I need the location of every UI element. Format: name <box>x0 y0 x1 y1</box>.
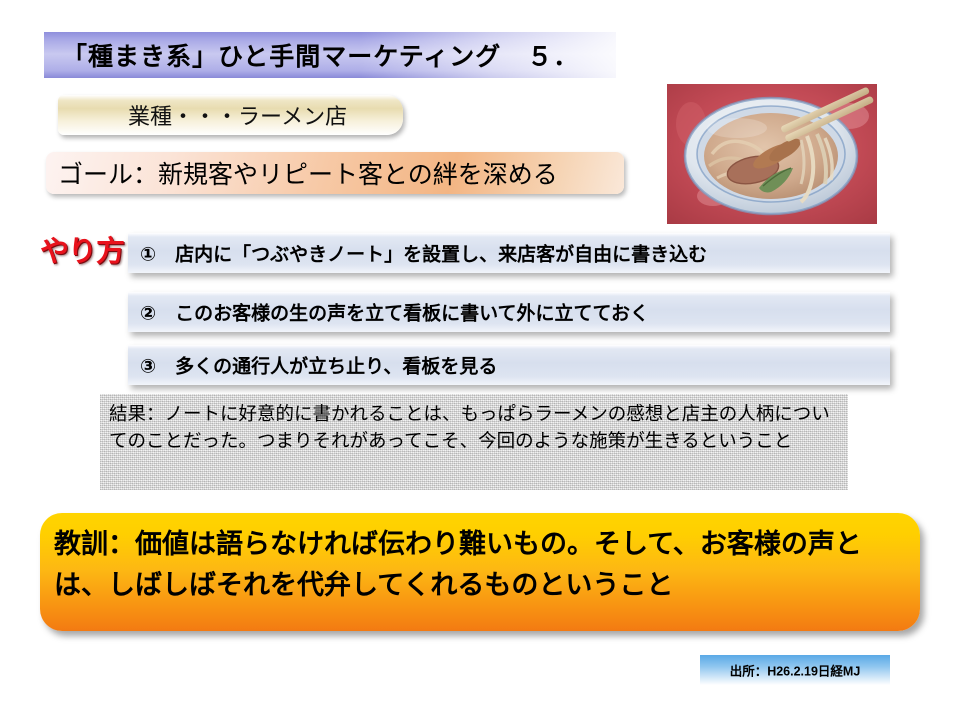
slide-canvas: 「種まき系」ひと手間マーケティング ５． 業種・・・ラーメン店 ゴール：新規客や… <box>0 0 960 720</box>
lesson-text: 教訓：価値は語らなければ伝わり難いもの。そして、お客様の声とは、しばしばそれを代… <box>54 524 906 606</box>
goal-banner: ゴール：新規客やリピート客との絆を深める <box>46 152 624 194</box>
source-citation-text: 出所：H26.2.19日経MJ <box>700 661 890 680</box>
step-label-2: ② このお客様の生の声を立て看板に書いて外に立てておく <box>140 299 649 326</box>
industry-banner: 業種・・・ラーメン店 <box>58 95 403 135</box>
result-panel: 結果：ノートに好意的に書かれることは、もっぱらラーメンの感想と店主の人柄について… <box>100 394 848 490</box>
source-citation-box: 出所：H26.2.19日経MJ <box>700 655 890 685</box>
industry-label: 業種・・・ラーメン店 <box>128 99 347 131</box>
slide-title-bar: 「種まき系」ひと手間マーケティング ５． <box>44 32 616 78</box>
lesson-panel: 教訓：価値は語らなければ伝わり難いもの。そして、お客様の声とは、しばしばそれを代… <box>40 513 920 631</box>
howto-label: やり方 <box>40 228 124 270</box>
step-label-1: ① 店内に「つぶやきノート」を設置し、来店客が自由に書き込む <box>140 240 707 267</box>
step-bar-2: ② このお客様の生の声を立て看板に書いて外に立てておく <box>128 292 890 332</box>
step-label-3: ③ 多くの通行人が立ち止り、看板を見る <box>140 352 497 379</box>
ramen-bowl-photo <box>667 84 877 224</box>
page-title: 「種まき系」ひと手間マーケティング ５． <box>62 37 579 73</box>
ramen-bowl-illustration <box>667 84 877 224</box>
goal-label: ゴール：新規客やリピート客との絆を深める <box>58 155 558 191</box>
step-bar-1: ① 店内に「つぶやきノート」を設置し、来店客が自由に書き込む <box>128 233 890 273</box>
step-bar-3: ③ 多くの通行人が立ち止り、看板を見る <box>128 345 890 385</box>
result-text: 結果：ノートに好意的に書かれることは、もっぱらラーメンの感想と店主の人柄について… <box>109 400 835 454</box>
